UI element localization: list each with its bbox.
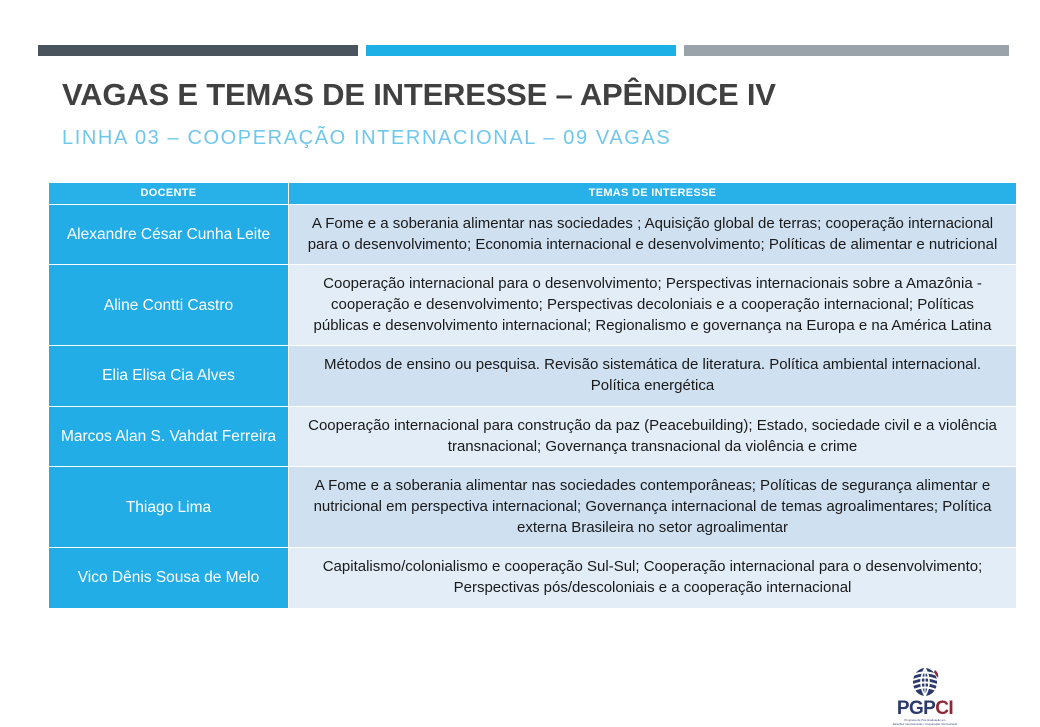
rule-segment-gray [684,45,1009,56]
table-header-row: DOCENTE TEMAS DE INTERESSE [49,183,1017,205]
table-row: Alexandre César Cunha LeiteA Fome e a so… [49,205,1017,265]
table-header: DOCENTE TEMAS DE INTERESSE [49,183,1017,205]
decorative-top-bar [0,45,1040,56]
page-subtitle: LINHA 03 – COOPERAÇÃO INTERNACIONAL – 09… [62,127,982,149]
rule-spacer-2 [676,45,684,56]
table-row: Thiago LimaA Fome e a soberania alimenta… [49,467,1017,548]
title-block: VAGAS E TEMAS DE INTERESSE – APÊNDICE IV… [62,78,982,149]
cell-temas: Cooperação internacional para construção… [289,406,1017,466]
table-row: Vico Dênis Sousa de MeloCapitalismo/colo… [49,548,1017,608]
cell-docente: Vico Dênis Sousa de Melo [49,548,289,608]
vagas-table: DOCENTE TEMAS DE INTERESSE Alexandre Cés… [48,182,1017,609]
cell-temas: A Fome e a soberania alimentar nas socie… [289,467,1017,548]
logo-wordmark: PGPCI [884,699,966,718]
cell-docente: Elia Elisa Cia Alves [49,346,289,406]
cell-temas: A Fome e a soberania alimentar nas socie… [289,205,1017,265]
cell-docente: Alexandre César Cunha Leite [49,205,289,265]
table-row: Elia Elisa Cia AlvesMétodos de ensino ou… [49,346,1017,406]
logo-subtitle-line2: Relações Internacionais / Cooperação Int… [884,723,966,727]
cell-temas: Cooperação internacional para o desenvol… [289,265,1017,346]
cell-temas: Métodos de ensino ou pesquisa. Revisão s… [289,346,1017,406]
globe-icon [908,664,942,698]
cell-docente: Thiago Lima [49,467,289,548]
rule-segment-dark [38,45,358,56]
cell-docente: Marcos Alan S. Vahdat Ferreira [49,406,289,466]
rule-spacer-1 [358,45,366,56]
table-row: Aline Contti CastroCooperação internacio… [49,265,1017,346]
table-body: Alexandre César Cunha LeiteA Fome e a so… [49,205,1017,609]
logo-word-pgp: PGP [897,698,935,719]
table-row: Marcos Alan S. Vahdat FerreiraCooperação… [49,406,1017,466]
column-header-temas: TEMAS DE INTERESSE [289,183,1017,205]
rule-spacer-left [0,45,38,56]
pgpci-logo: PGPCI Programa de Pós-Graduação em Relaç… [884,664,966,720]
cell-temas: Capitalismo/colonialismo e cooperação Su… [289,548,1017,608]
rule-segment-blue [366,45,676,56]
page-title: VAGAS E TEMAS DE INTERESSE – APÊNDICE IV [62,78,982,113]
logo-word-ci: CI [935,698,953,719]
column-header-docente: DOCENTE [49,183,289,205]
cell-docente: Aline Contti Castro [49,265,289,346]
